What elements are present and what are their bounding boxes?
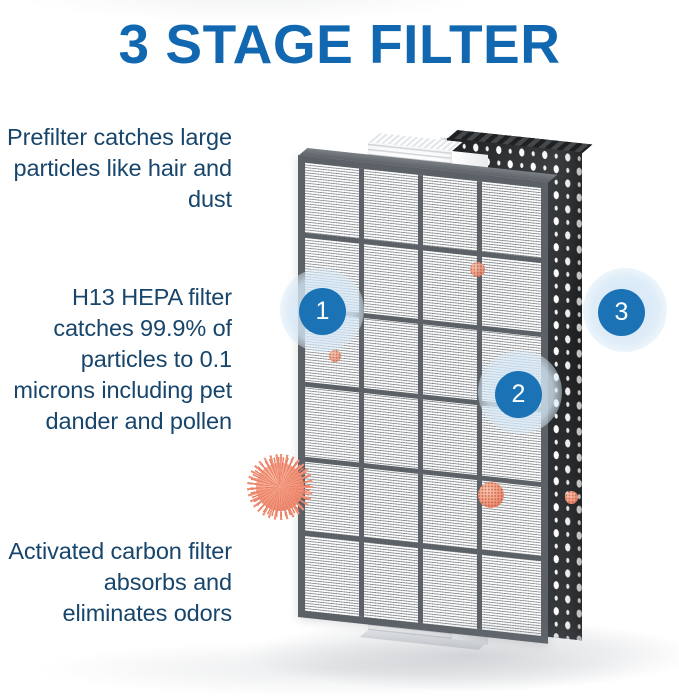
stage-badge-2[interactable]: 2: [495, 371, 542, 418]
stage-badge-1[interactable]: 1: [299, 288, 346, 335]
carbon-particle-icon: [565, 491, 578, 504]
stage-badge-3[interactable]: 3: [598, 289, 645, 336]
hepa-particle-upper-icon: [470, 262, 485, 277]
description-hepa: H13 HEPA filter catches 99.9% of particl…: [0, 282, 232, 437]
large-virus-particle-icon: [256, 463, 304, 511]
page-title: 3 STAGE FILTER: [0, 12, 679, 76]
description-carbon: Activated carbon filter absorbs and elim…: [0, 536, 232, 629]
description-prefilter: Prefilter catches large particles like h…: [0, 122, 232, 215]
hepa-particle-lower-icon: [478, 482, 504, 508]
filter-infographic: 3 STAGE FILTER Prefilter catches large p…: [0, 0, 679, 697]
prefilter-particle-icon: [329, 350, 341, 362]
